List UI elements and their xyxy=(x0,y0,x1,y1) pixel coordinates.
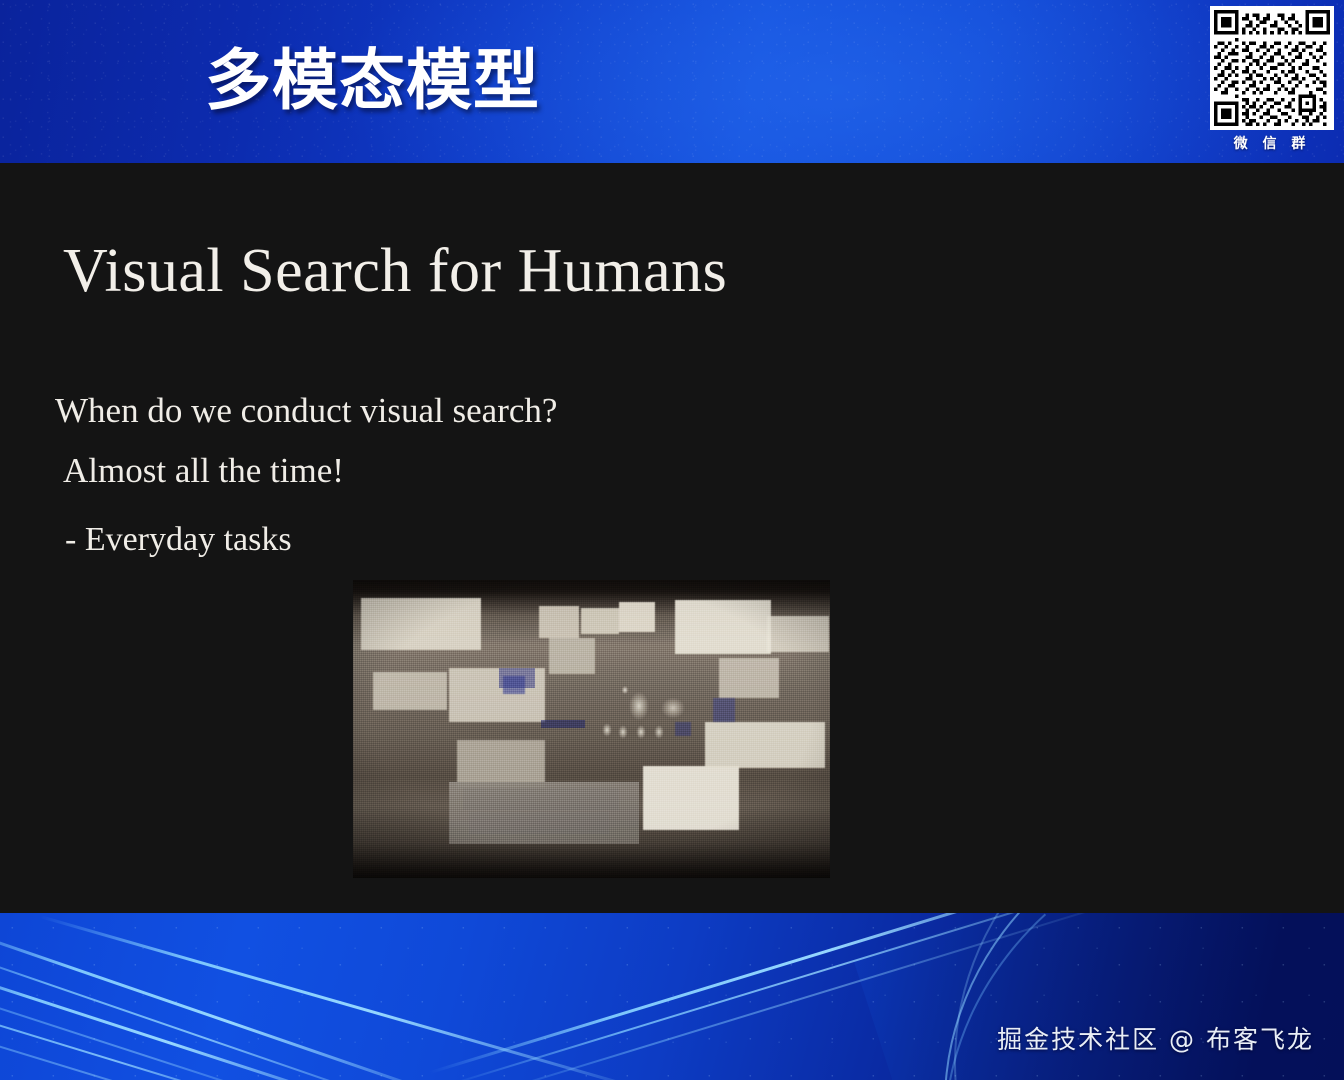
qr-code-icon[interactable] xyxy=(1210,6,1334,130)
slide-page: 多模态模型 xyxy=(0,0,1344,1080)
footer-band: 掘金技术社区 @ 布客飞龙 xyxy=(0,913,1344,1080)
page-title: 多模态模型 xyxy=(205,46,540,115)
slide-text-bullet: - Everyday tasks xyxy=(65,521,292,559)
qr-caption-label: 微 信 群 xyxy=(1208,133,1336,153)
header-noise-texture xyxy=(0,0,1344,163)
slide-content-area: Visual Search for Humans When do we cond… xyxy=(0,163,1344,913)
watermark-label: 掘金技术社区 @ 布客飞龙 xyxy=(997,1020,1314,1056)
photo-dither-texture xyxy=(353,580,830,878)
wechat-qr-block[interactable]: 微 信 群 xyxy=(1208,6,1336,153)
slide-heading: Visual Search for Humans xyxy=(63,236,727,307)
slide-text-answer: Almost all the time! xyxy=(63,451,344,491)
slide-text-question: When do we conduct visual search? xyxy=(55,391,557,431)
cluttered-desk-photo xyxy=(353,580,830,878)
header-band: 多模态模型 xyxy=(0,0,1344,163)
